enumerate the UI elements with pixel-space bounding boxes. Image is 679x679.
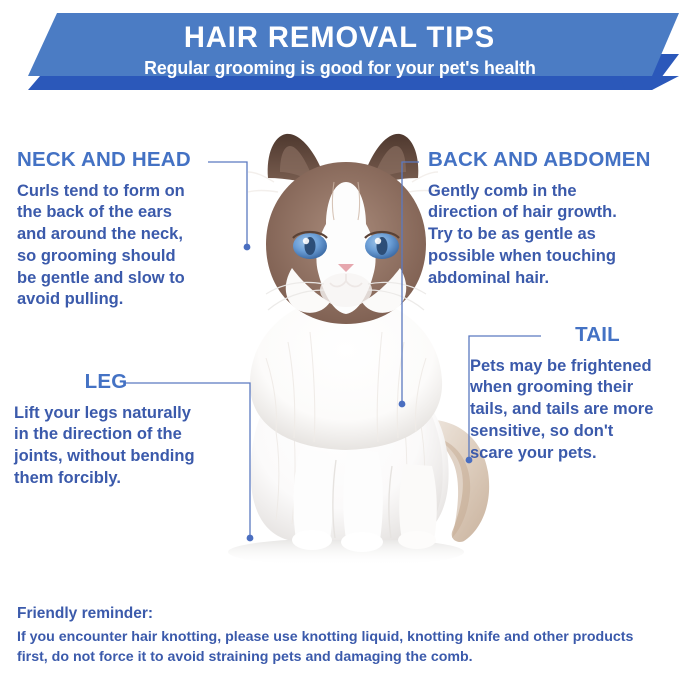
callout-body-line: Pets may be frightened bbox=[470, 356, 663, 378]
callout-heading: TAIL bbox=[532, 325, 663, 346]
callout-neck-and-head: NECK AND HEAD Curls tend to form on the … bbox=[17, 150, 191, 311]
cat-front-leg-left bbox=[293, 450, 332, 540]
callout-heading: LEG bbox=[76, 372, 136, 393]
callout-body: Pets may be frightened when grooming the… bbox=[470, 356, 663, 465]
cat-front-leg-right bbox=[343, 450, 383, 540]
cat-paw-2 bbox=[341, 532, 383, 552]
infographic-page: HAIR REMOVAL TIPS Regular grooming is go… bbox=[0, 0, 679, 679]
cat-muzzle bbox=[320, 273, 372, 307]
callout-body-line: joints, without bending bbox=[14, 446, 195, 468]
callout-body-line: and around the neck, bbox=[17, 224, 191, 246]
callout-body-line: avoid pulling. bbox=[17, 289, 191, 311]
callout-body-line: abdominal hair. bbox=[428, 268, 651, 290]
callout-body: Curls tend to form on the back of the ea… bbox=[17, 181, 191, 312]
banner-shape bbox=[0, 0, 679, 100]
callout-body-line: be gentle and slow to bbox=[17, 268, 191, 290]
callout-body-line: so grooming should bbox=[17, 246, 191, 268]
cat-hind-leg-right bbox=[399, 464, 437, 540]
callout-body: Gently comb in the direction of hair gro… bbox=[428, 181, 651, 290]
callout-body: Lift your legs naturally in the directio… bbox=[14, 403, 195, 490]
callout-body-line: possible when touching bbox=[428, 246, 651, 268]
callout-body-line: Try to be as gentle as bbox=[428, 224, 651, 246]
callout-body-line: the back of the ears bbox=[17, 202, 191, 224]
cat-paw-3 bbox=[398, 531, 436, 549]
callout-body-line: Gently comb in the bbox=[428, 181, 651, 203]
callout-body-line: direction of hair growth. bbox=[428, 202, 651, 224]
friendly-reminder-line2: first, do not force it to avoid strainin… bbox=[17, 647, 667, 667]
callout-body-line: when grooming their bbox=[470, 377, 663, 399]
callout-tail: TAIL Pets may be frightened when groomin… bbox=[470, 325, 663, 464]
callout-body-line: scare your pets. bbox=[470, 443, 663, 465]
friendly-reminder-line1: If you encounter hair knotting, please u… bbox=[17, 627, 667, 647]
callout-body-line: tails, and tails are more bbox=[470, 399, 663, 421]
header-banner: HAIR REMOVAL TIPS Regular grooming is go… bbox=[0, 0, 679, 100]
callout-body-line: Lift your legs naturally bbox=[14, 403, 195, 425]
friendly-reminder-title: Friendly reminder: bbox=[17, 605, 667, 624]
callout-back-and-abdomen: BACK AND ABDOMEN Gently comb in the dire… bbox=[428, 150, 651, 289]
callout-leg: LEG Lift your legs naturally in the dire… bbox=[14, 372, 195, 490]
callout-body-line: Curls tend to form on bbox=[17, 181, 191, 203]
cat-paw-1 bbox=[292, 530, 332, 550]
friendly-reminder: Friendly reminder: If you encounter hair… bbox=[17, 605, 667, 667]
callout-body-line: them forcibly. bbox=[14, 468, 195, 490]
banner-shape-back bbox=[28, 76, 679, 90]
callout-heading: NECK AND HEAD bbox=[17, 150, 191, 171]
callout-body-line: sensitive, so don't bbox=[470, 421, 663, 443]
callout-heading: BACK AND ABDOMEN bbox=[428, 150, 651, 171]
callout-body-line: in the direction of the bbox=[14, 424, 195, 446]
banner-shape-front bbox=[28, 13, 679, 76]
